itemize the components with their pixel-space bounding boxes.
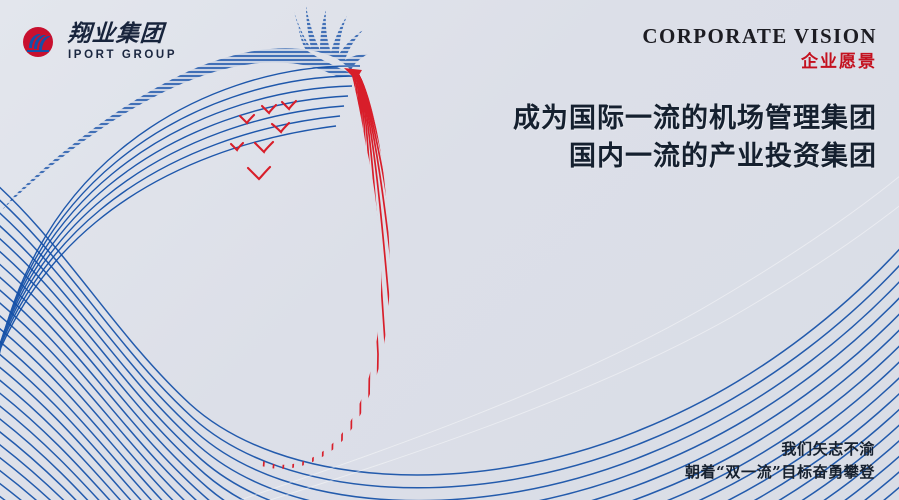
eyebrow-chinese: 企业愿景: [642, 54, 877, 71]
section-eyebrow: CORPORATE VISION 企业愿景: [642, 26, 877, 71]
iport-group-roundel-icon: [16, 20, 60, 64]
small-bird-icon: [248, 167, 270, 179]
logo-chinese-name: 翔业集团: [67, 22, 178, 45]
headline-line-2: 国内一流的产业投资集团: [513, 138, 877, 176]
small-bird-icon: [282, 101, 296, 109]
eyebrow-english: CORPORATE VISION: [642, 26, 877, 47]
headline-line-1: 成为国际一流的机场管理集团: [513, 100, 877, 138]
small-bird-icon: [255, 142, 273, 152]
blue-swirl-arcs: [0, 66, 360, 444]
eagle-line-art-artwork: [0, 0, 899, 500]
corporate-vision-poster: 翔业集团 IPORT GROUP CORPORATE VISION 企业愿景 成…: [0, 0, 899, 500]
tagline-line-2: 朝着“双一流”目标奋勇攀登: [685, 461, 875, 484]
logo-english-name: IPORT GROUP: [68, 50, 177, 62]
tagline-line-1: 我们矢志不渝: [685, 438, 875, 461]
brand-logo[interactable]: 翔业集团 IPORT GROUP: [16, 20, 177, 64]
logo-wordmark: 翔业集团 IPORT GROUP: [68, 22, 177, 62]
small-bird-icon: [262, 105, 276, 113]
page-title: 成为国际一流的机场管理集团 国内一流的产业投资集团: [513, 100, 877, 177]
footer-tagline: 我们矢志不渝 朝着“双一流”目标奋勇攀登: [685, 438, 875, 485]
